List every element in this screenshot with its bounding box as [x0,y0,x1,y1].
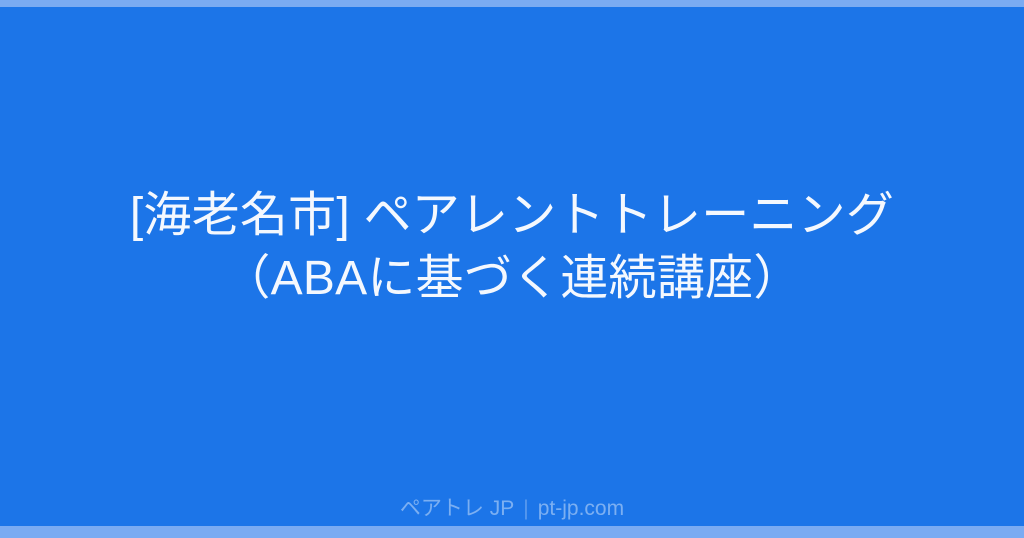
title-block: [海老名市] ペアレントトレーニング（ABAに基づく連続講座） [0,0,1024,538]
og-share-card: [海老名市] ペアレントトレーニング（ABAに基づく連続講座） ペアトレ JP … [0,0,1024,538]
bottom-accent-bar [0,526,1024,538]
page-title: [海老名市] ペアレントトレーニング（ABAに基づく連続講座） [117,184,907,311]
